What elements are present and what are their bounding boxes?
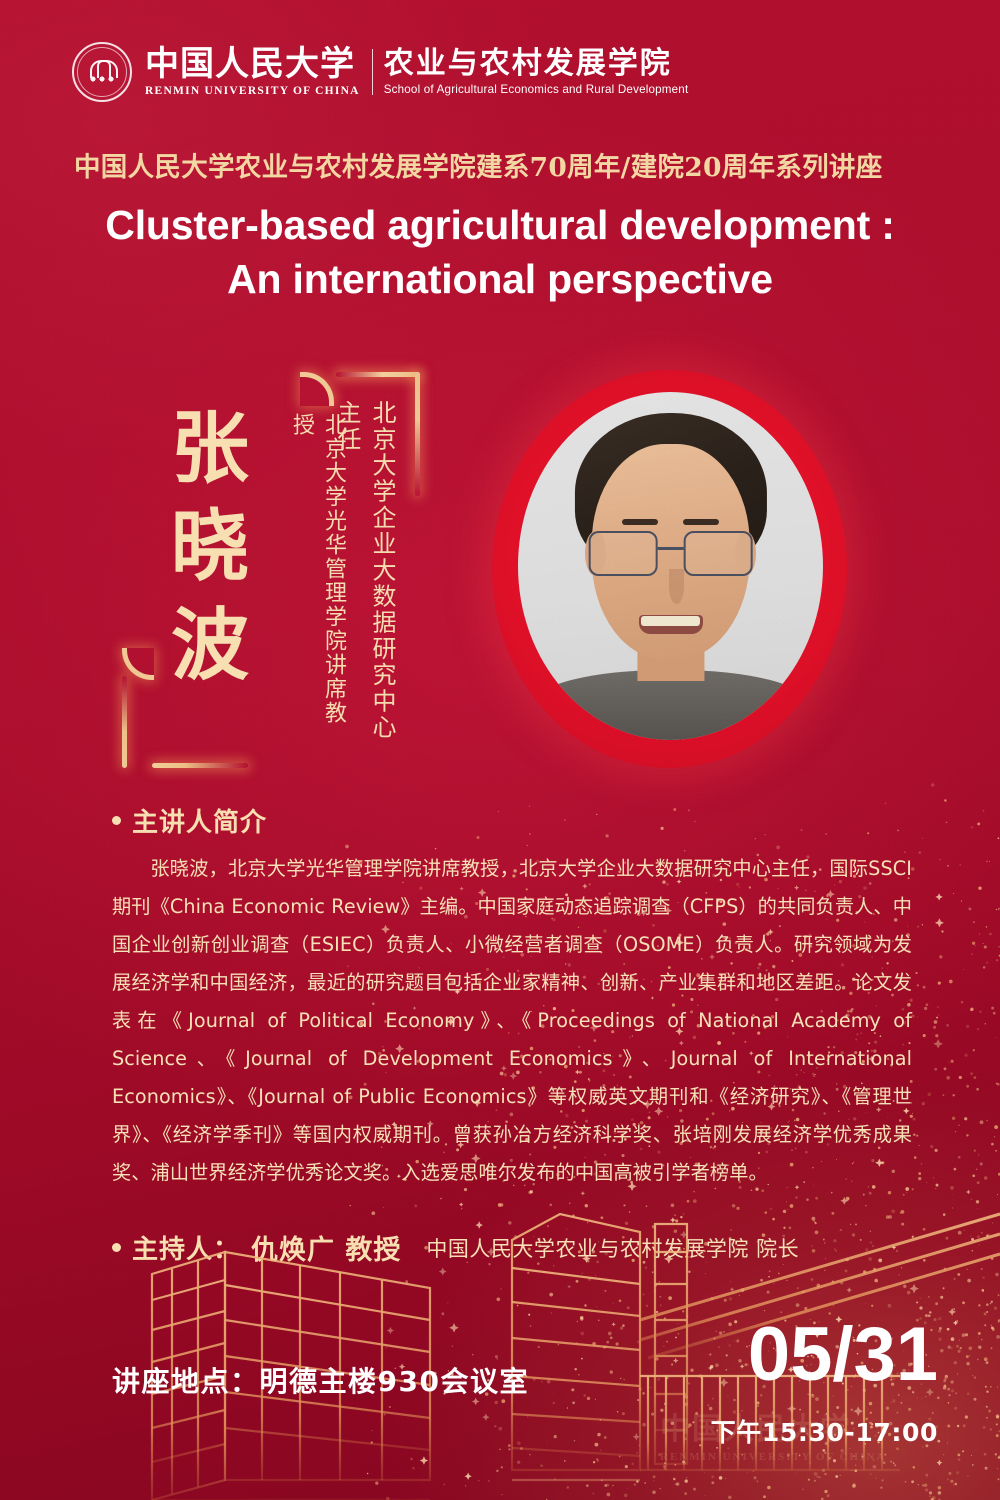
speaker-name: 张晓波	[150, 400, 270, 695]
speaker-affiliation-2: 北京大学光华管理学院讲席教授	[285, 413, 349, 743]
university-logo: 中国人民大学 RENMIN UNIVERSITY OF CHINA 农业与农村发…	[72, 42, 688, 102]
bio-text: 张晓波，北京大学光华管理学院讲席教授，北京大学企业大数据研究中心主任，国际SSC…	[112, 850, 912, 1192]
bio-heading-label: 主讲人简介	[132, 802, 267, 839]
poster-root: 中国人民大学 RENMIN UNIVERSITY OF CHINA 农业与农村发…	[0, 0, 1000, 1500]
event-time: 下午15:30-17:00	[711, 1413, 938, 1449]
bio-heading: 主讲人简介	[112, 802, 267, 839]
lecture-title-line1: Cluster-based agricultural development :	[50, 198, 950, 252]
school-name-cn: 农业与农村发展学院	[384, 48, 689, 80]
school-name-en: School of Agricultural Economics and Rur…	[384, 83, 689, 96]
venue-text: 讲座地点：明德主楼930会议室	[112, 1360, 529, 1400]
series-subtitle: 中国人民大学农业与农村发展学院建系70周年/建院20周年系列讲座	[74, 145, 934, 184]
event-date: 05/31	[748, 1317, 938, 1393]
university-name-cn: 中国人民大学	[145, 47, 360, 82]
speaker-portrait	[492, 370, 847, 768]
lecture-title-line2: An international perspective	[50, 252, 950, 306]
lecture-title: Cluster-based agricultural development :…	[50, 198, 950, 306]
bullet-dot-icon	[112, 816, 121, 825]
portrait-photo	[518, 392, 823, 740]
ruc-seal-icon	[72, 42, 132, 102]
university-name-en: RENMIN UNIVERSITY OF CHINA	[145, 85, 360, 97]
logo-divider	[372, 49, 373, 95]
